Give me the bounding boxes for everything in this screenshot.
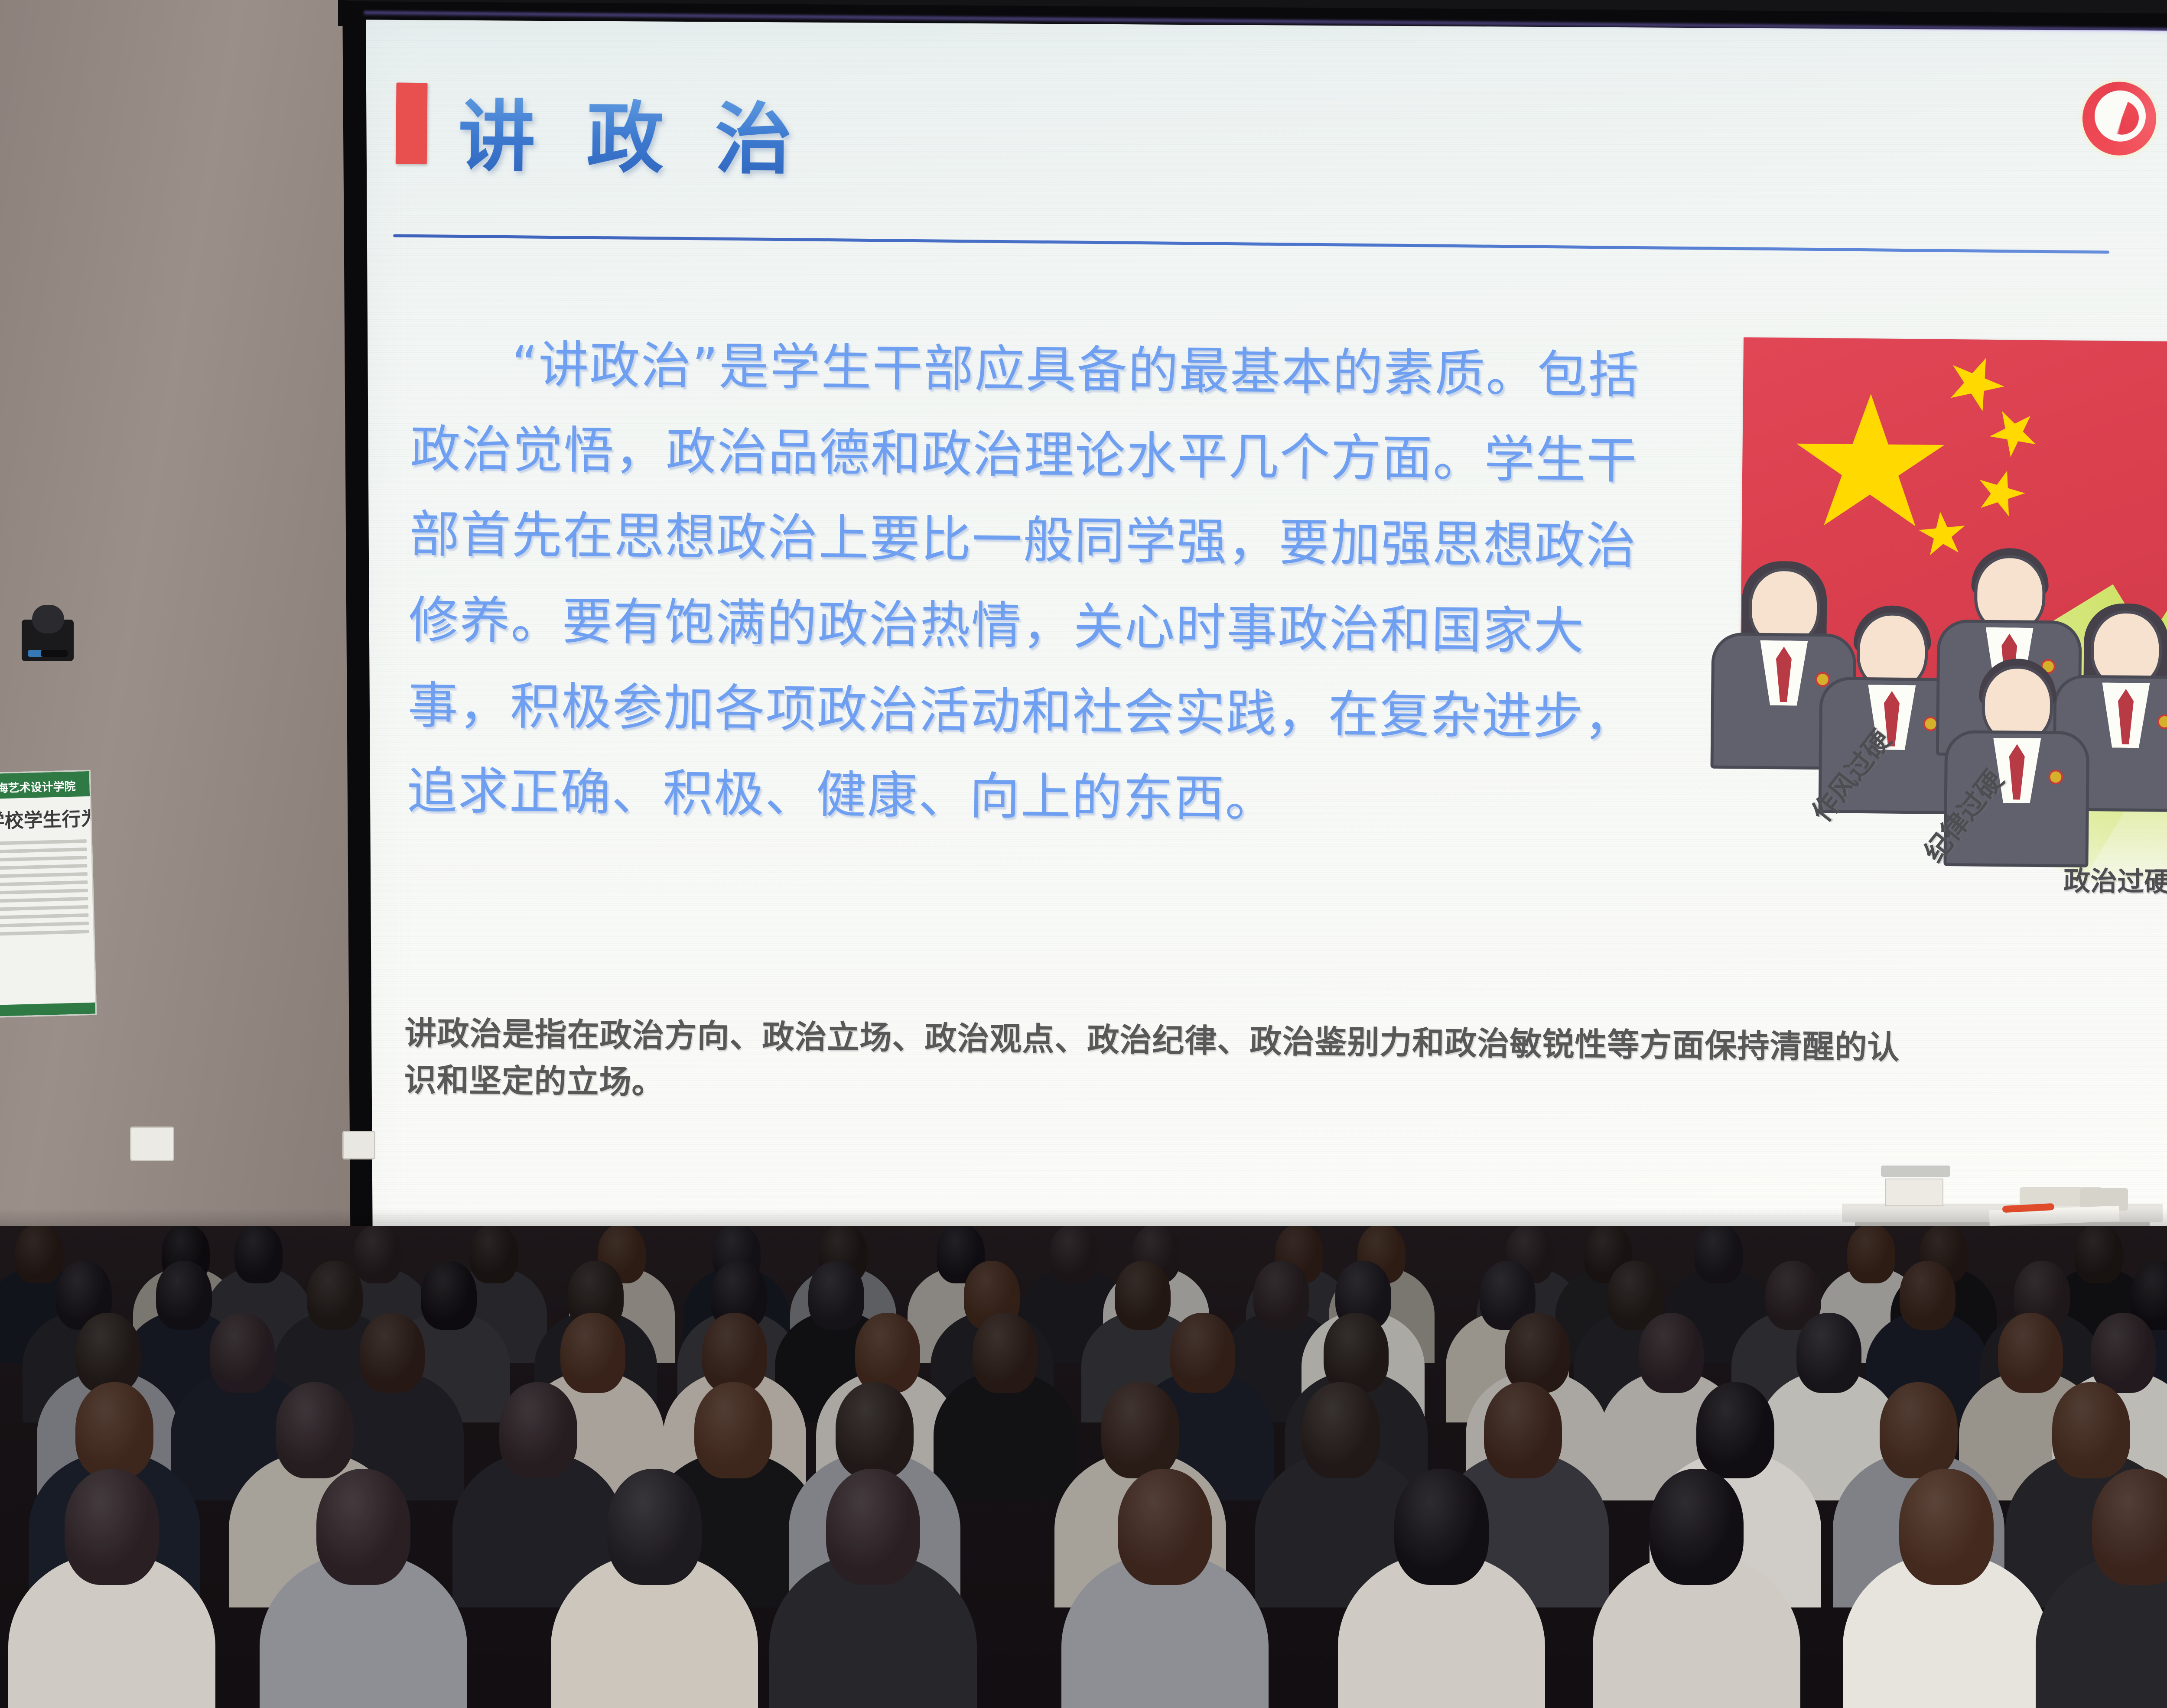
audience-member-head <box>1253 1261 1309 1330</box>
university-logo: 北海艺术设计学院 BEIHAI UNIVERSITY OF ART AND DE… <box>2082 81 2167 160</box>
person-badge <box>2159 716 2167 727</box>
audience-member-head <box>1115 1261 1171 1330</box>
audience-member-head <box>1302 1382 1380 1478</box>
audience-member-head <box>702 1313 767 1393</box>
audience-member-head <box>234 1226 283 1283</box>
audience-member-head <box>1650 1469 1744 1585</box>
flag-star-small-3 <box>1971 464 2030 522</box>
flag-star-small-1 <box>1939 347 2012 419</box>
audience-member-head <box>1394 1469 1489 1585</box>
illustration-label-zhengzhi: 政治过硬 <box>2063 859 2167 899</box>
table-remote-bar <box>1881 1166 1950 1177</box>
lecture-hall-scene: 讲 政 治 北海艺术设计学院 BEIHAI UNIVERSITY OF ART … <box>0 0 2167 1708</box>
poster-header: 北海艺术设计学院 <box>0 771 90 799</box>
audience-member-head <box>316 1469 411 1585</box>
poster-title: 学校学生行为准则 <box>0 796 91 838</box>
audience-member-head <box>2091 1313 2156 1393</box>
audience-member-head <box>307 1261 363 1330</box>
person-badge <box>1925 718 1936 729</box>
table-eraser-box <box>1885 1179 1943 1206</box>
audience-member-head <box>276 1382 354 1478</box>
audience-member-head <box>75 1382 153 1478</box>
audience-member-head <box>1900 1261 1956 1330</box>
slide: 讲 政 治 北海艺术设计学院 BEIHAI UNIVERSITY OF ART … <box>361 17 2167 1287</box>
audience-member-head <box>421 1261 477 1330</box>
audience-member-head <box>1050 1226 1098 1283</box>
audience-member-head <box>354 1226 402 1283</box>
wall-switch-plate-2[interactable] <box>342 1131 375 1159</box>
slide-illustration: 作风过硬 纪律过硬 政治过硬 业务过硬 服务过硬 <box>1721 316 2167 922</box>
wall-switch-plate-1[interactable] <box>130 1127 174 1161</box>
left-wall <box>0 0 364 1343</box>
audience-member-head <box>855 1313 920 1393</box>
person-badge <box>1817 674 1828 685</box>
flag-star-large <box>1794 393 1947 538</box>
audience-member-head <box>973 1313 1038 1393</box>
title-accent-bar <box>396 83 428 165</box>
ptz-camera-left-icon <box>22 620 74 661</box>
audience-member-head <box>499 1382 577 1478</box>
audience-member-head <box>1880 1382 1958 1478</box>
audience-member-head <box>1505 1313 1570 1393</box>
audience-member-head <box>2075 1226 2123 1283</box>
flag-star-small-2 <box>1980 399 2048 467</box>
audience-member-head <box>1899 1469 1994 1585</box>
audience-member-head <box>360 1313 425 1393</box>
audience-rows <box>0 1226 2167 1708</box>
audience-member-head <box>808 1261 864 1330</box>
audience-member-head <box>1101 1382 1179 1478</box>
audience-member-head <box>1696 1382 1774 1478</box>
slide-body-column: “讲政治”是学生干部应具备的最基本的素质。包括政治觉悟，政治品德和政治理论水平几… <box>407 321 1668 846</box>
audience-member-head <box>1324 1313 1389 1393</box>
audience-member-head <box>76 1313 141 1393</box>
audience-member-head <box>607 1469 702 1585</box>
person-badge <box>2050 771 2061 783</box>
audience-member-head <box>826 1469 921 1585</box>
audience-member-head <box>2052 1382 2130 1478</box>
audience-member-head <box>156 1261 212 1330</box>
flag-star-small-4 <box>1916 510 1969 560</box>
audience-member-head <box>694 1382 772 1478</box>
poster-body-lines <box>0 839 93 936</box>
slide-caption-text: 讲政治是指在政治方向、政治立场、政治观点、政治纪律、政治鉴别力和政治敏锐性等方面… <box>404 1010 1922 1118</box>
wall-poster: 北海艺术设计学院 学校学生行为准则 <box>0 770 97 1018</box>
audience-member-head <box>1847 1226 1895 1283</box>
poster-footer <box>0 1003 95 1017</box>
audience-member-head <box>1118 1469 1212 1585</box>
audience-member-head <box>1695 1226 1743 1283</box>
audience-member-head <box>836 1382 914 1478</box>
slide-body-text: “讲政治”是学生干部应具备的最基本的素质。包括政治觉悟，政治品德和政治理论水平几… <box>407 321 1668 846</box>
audience-member-head <box>560 1313 625 1393</box>
audience-member-head <box>65 1469 159 1585</box>
slide-title: 讲 政 治 <box>458 75 804 189</box>
title-divider-rule <box>393 234 2109 253</box>
spiral-logo-icon <box>2082 81 2157 156</box>
audience-member-head <box>1484 1382 1562 1478</box>
audience-member-head <box>1170 1313 1235 1393</box>
audience-member-head <box>470 1226 518 1283</box>
audience-member-head <box>15 1226 63 1283</box>
audience-member-head <box>1796 1313 1861 1393</box>
audience-member-head <box>1998 1313 2063 1393</box>
audience-member-head <box>1639 1313 1704 1393</box>
audience-member-head <box>210 1313 275 1393</box>
